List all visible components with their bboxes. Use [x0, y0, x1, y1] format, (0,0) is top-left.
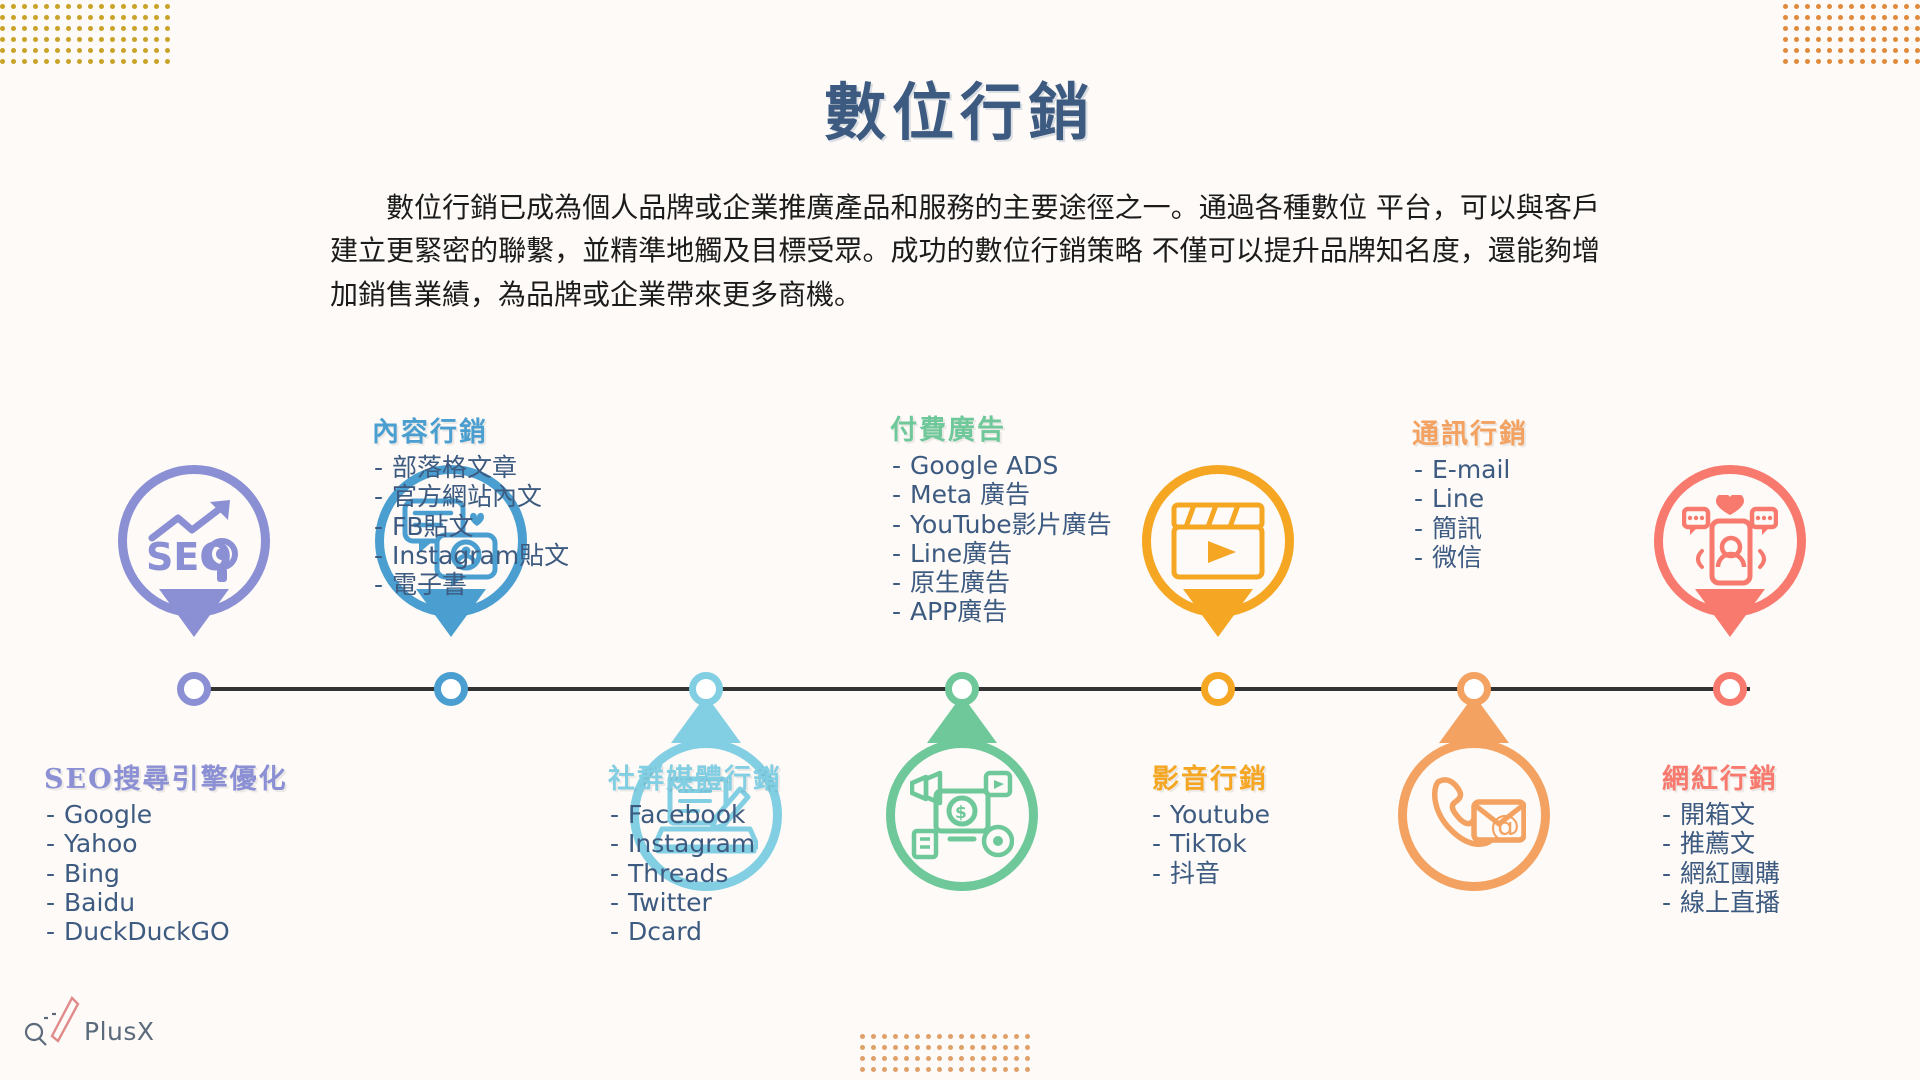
list-item: 部落格文章	[372, 453, 569, 482]
decorative-dot	[110, 26, 115, 31]
decorative-dot	[1816, 4, 1821, 9]
decorative-dot	[1816, 37, 1821, 42]
decorative-dot	[99, 26, 104, 31]
decorative-dot	[860, 1056, 865, 1061]
decorative-dot	[1893, 4, 1898, 9]
decorative-dot	[1783, 48, 1788, 53]
list-item: 推薦文	[1660, 829, 1780, 858]
list-item: 簡訊	[1412, 514, 1528, 543]
decorative-dot	[121, 37, 126, 42]
decorative-dot	[77, 4, 82, 9]
item-heading-influencer: 網紅行銷	[1660, 757, 1780, 796]
decorative-dot	[44, 26, 49, 31]
decorative-dot	[926, 1045, 931, 1050]
decorative-dot	[970, 1034, 975, 1039]
decorative-dot	[154, 4, 159, 9]
decorative-dot	[1904, 15, 1909, 20]
decorative-dot	[948, 1067, 953, 1072]
decorative-dot	[55, 4, 60, 9]
decorative-dot	[1882, 15, 1887, 20]
item-heading-paid: 付費廣告	[890, 408, 1112, 447]
decorative-dot	[1838, 26, 1843, 31]
list-item: YouTube影片廣告	[890, 510, 1112, 539]
decorative-dot	[970, 1056, 975, 1061]
list-item: TikTok	[1150, 829, 1270, 858]
decorative-dot	[0, 4, 5, 9]
decorative-dot	[44, 48, 49, 53]
decorative-dot	[915, 1045, 920, 1050]
decorative-dot	[1794, 48, 1799, 53]
decorative-dot	[121, 4, 126, 9]
decorative-dot	[1849, 15, 1854, 20]
marker-messaging[interactable]: @	[1398, 739, 1550, 891]
decorative-dot	[143, 4, 148, 9]
decorative-dot	[1838, 37, 1843, 42]
decorative-dot	[1794, 15, 1799, 20]
decorative-dot	[1014, 1067, 1019, 1072]
list-item: E-mail	[1412, 455, 1528, 484]
decorative-dot	[55, 15, 60, 20]
list-item: 開箱文	[1660, 800, 1780, 829]
megaphone-screen-icon: $	[910, 769, 1014, 861]
item-heading-content: 內容行銷	[372, 410, 569, 449]
timeline-node-social[interactable]	[689, 672, 723, 706]
item-list-video: YoutubeTikTok抖音	[1150, 800, 1270, 888]
decorative-dot	[1871, 4, 1876, 9]
marker-tail	[1183, 589, 1253, 637]
decorative-dot	[1860, 26, 1865, 31]
intro-paragraph: 數位行銷已成為個人品牌或企業推廣產品和服務的主要途徑之一。通過各種數位 平台，可…	[330, 186, 1600, 316]
decorative-dot	[1014, 1034, 1019, 1039]
item-heading-messaging: 通訊行銷	[1412, 412, 1528, 451]
decorative-dot	[165, 26, 170, 31]
decorative-dot	[66, 37, 71, 42]
list-item: Bing	[44, 859, 288, 888]
decorative-dot	[871, 1045, 876, 1050]
decorative-dot	[1904, 37, 1909, 42]
list-item: Instagram貼文	[372, 541, 569, 570]
list-item: FB貼文	[372, 512, 569, 541]
list-item: 微信	[1412, 543, 1528, 572]
decorative-dot	[1882, 48, 1887, 53]
decorative-dot	[1827, 4, 1832, 9]
decorative-dot	[77, 48, 82, 53]
decorative-dot	[871, 1034, 876, 1039]
decorative-dot	[1915, 15, 1920, 20]
decorative-dot	[66, 26, 71, 31]
decorative-dot	[132, 15, 137, 20]
decorative-dot	[1827, 37, 1832, 42]
list-item: APP廣告	[890, 597, 1112, 626]
decorative-dot	[1783, 15, 1788, 20]
list-item: Youtube	[1150, 800, 1270, 829]
decorative-dot	[1025, 1056, 1030, 1061]
list-item: 原生廣告	[890, 568, 1112, 597]
list-item: 線上直播	[1660, 888, 1780, 917]
decorative-dot	[1003, 1034, 1008, 1039]
decorative-dot	[1849, 26, 1854, 31]
decorative-dot	[1783, 4, 1788, 9]
decorative-dot	[926, 1034, 931, 1039]
decorative-dot	[1849, 4, 1854, 9]
decorative-dot	[1805, 26, 1810, 31]
dot-pattern-bottom-center	[860, 1034, 1030, 1072]
decorative-dot	[44, 37, 49, 42]
list-item: Google	[44, 800, 288, 829]
svg-text:$: $	[955, 803, 967, 823]
infographic-canvas: 數位行銷 數位行銷已成為個人品牌或企業推廣產品和服務的主要途徑之一。通過各種數位…	[0, 0, 1920, 1080]
decorative-dot	[981, 1045, 986, 1050]
decorative-dot	[915, 1067, 920, 1072]
decorative-dot	[143, 37, 148, 42]
decorative-dot	[1014, 1056, 1019, 1061]
decorative-dot	[893, 1045, 898, 1050]
decorative-dot	[0, 37, 5, 42]
decorative-dot	[860, 1034, 865, 1039]
decorative-dot	[860, 1045, 865, 1050]
item-heading-social: 社群媒體行銷	[608, 757, 782, 796]
list-item: 抖音	[1150, 859, 1270, 888]
decorative-dot	[915, 1056, 920, 1061]
list-item: 官方網站內文	[372, 482, 569, 511]
decorative-dot	[1794, 37, 1799, 42]
decorative-dot	[55, 26, 60, 31]
decorative-dot	[143, 48, 148, 53]
decorative-dot	[1838, 15, 1843, 20]
decorative-dot	[1871, 15, 1876, 20]
item-list-messaging: E-mailLine簡訊微信	[1412, 455, 1528, 572]
list-item: DuckDuckGO	[44, 917, 288, 946]
decorative-dot	[154, 37, 159, 42]
dot-pattern-top-left	[0, 4, 170, 64]
decorative-dot	[1860, 37, 1865, 42]
decorative-dot	[1882, 4, 1887, 9]
decorative-dot	[937, 1067, 942, 1072]
decorative-dot	[1003, 1056, 1008, 1061]
decorative-dot	[66, 48, 71, 53]
decorative-dot	[1816, 48, 1821, 53]
item-block-social: 社群媒體行銷FacebookInstagramThreadsTwitterDca…	[608, 757, 782, 946]
decorative-dot	[55, 37, 60, 42]
decorative-dot	[99, 4, 104, 9]
decorative-dot	[44, 15, 49, 20]
decorative-dot	[1893, 26, 1898, 31]
decorative-dot	[992, 1034, 997, 1039]
decorative-dot	[1805, 4, 1810, 9]
decorative-dot	[22, 37, 27, 42]
decorative-dot	[11, 48, 16, 53]
list-item: Threads	[608, 859, 782, 888]
decorative-dot	[132, 26, 137, 31]
list-item: Facebook	[608, 800, 782, 829]
decorative-dot	[1794, 4, 1799, 9]
decorative-dot	[0, 48, 5, 53]
item-list-influencer: 開箱文推薦文網紅團購線上直播	[1660, 800, 1780, 917]
plusx-mark-icon	[22, 988, 82, 1046]
marker-bulb-messaging: @	[1398, 739, 1550, 891]
item-block-messaging: 通訊行銷E-mailLine簡訊微信	[1412, 412, 1528, 572]
decorative-dot	[948, 1034, 953, 1039]
decorative-dot	[992, 1056, 997, 1061]
decorative-dot	[1904, 26, 1909, 31]
decorative-dot	[959, 1034, 964, 1039]
decorative-dot	[904, 1045, 909, 1050]
decorative-dot	[1893, 37, 1898, 42]
decorative-dot	[893, 1067, 898, 1072]
decorative-dot	[1904, 48, 1909, 53]
decorative-dot	[1860, 4, 1865, 9]
plusx-logo: PlusX	[22, 988, 155, 1046]
decorative-dot	[937, 1034, 942, 1039]
decorative-dot	[44, 4, 49, 9]
decorative-dot	[165, 37, 170, 42]
decorative-dot	[904, 1067, 909, 1072]
decorative-dot	[904, 1056, 909, 1061]
timeline-node-content[interactable]	[434, 672, 468, 706]
decorative-dot	[1805, 37, 1810, 42]
marker-tail	[159, 589, 229, 637]
decorative-dot	[1003, 1067, 1008, 1072]
decorative-dot	[1915, 48, 1920, 53]
decorative-dot	[937, 1056, 942, 1061]
decorative-dot	[165, 4, 170, 9]
phone-email-icon: @	[1422, 772, 1526, 858]
decorative-dot	[99, 37, 104, 42]
seo-chart-icon: SEO	[144, 498, 244, 584]
decorative-dot	[981, 1067, 986, 1072]
decorative-dot	[882, 1067, 887, 1072]
marker-seo[interactable]: SEO	[118, 465, 270, 633]
timeline-node-video[interactable]	[1201, 672, 1235, 706]
decorative-dot	[1816, 26, 1821, 31]
decorative-dot	[143, 26, 148, 31]
decorative-dot	[882, 1034, 887, 1039]
marker-paid[interactable]: $	[886, 739, 1038, 891]
decorative-dot	[882, 1056, 887, 1061]
decorative-dot	[110, 15, 115, 20]
decorative-dot	[121, 15, 126, 20]
decorative-dot	[121, 48, 126, 53]
decorative-dot	[11, 37, 16, 42]
decorative-dot	[1827, 48, 1832, 53]
svg-text:@: @	[1490, 809, 1520, 844]
decorative-dot	[33, 4, 38, 9]
decorative-dot	[1915, 26, 1920, 31]
marker-influencer[interactable]	[1654, 465, 1806, 633]
list-item: Google ADS	[890, 451, 1112, 480]
decorative-dot	[926, 1056, 931, 1061]
decorative-dot	[1783, 26, 1788, 31]
decorative-dot	[66, 4, 71, 9]
list-item: Line廣告	[890, 539, 1112, 568]
timeline-node-influencer[interactable]	[1713, 672, 1747, 706]
decorative-dot	[1025, 1045, 1030, 1050]
decorative-dot	[970, 1067, 975, 1072]
decorative-dot	[55, 48, 60, 53]
decorative-dot	[121, 26, 126, 31]
item-list-social: FacebookInstagramThreadsTwitterDcard	[608, 800, 782, 946]
decorative-dot	[1893, 15, 1898, 20]
plusx-wordmark: PlusX	[84, 1017, 155, 1046]
decorative-dot	[165, 15, 170, 20]
list-item: Dcard	[608, 917, 782, 946]
decorative-dot	[165, 48, 170, 53]
decorative-dot	[88, 26, 93, 31]
decorative-dot	[893, 1034, 898, 1039]
decorative-dot	[1014, 1045, 1019, 1050]
item-heading-video: 影音行銷	[1150, 757, 1270, 796]
decorative-dot	[1915, 37, 1920, 42]
decorative-dot	[154, 15, 159, 20]
decorative-dot	[1871, 48, 1876, 53]
intro-line-1: 數位行銷已成為個人品牌或企業推廣產品和服務的主要途徑之一。通過各種數位	[386, 191, 1367, 224]
decorative-dot	[1882, 37, 1887, 42]
decorative-dot	[99, 48, 104, 53]
decorative-dot	[1860, 48, 1865, 53]
decorative-dot	[154, 26, 159, 31]
decorative-dot	[132, 4, 137, 9]
decorative-dot	[88, 15, 93, 20]
decorative-dot	[981, 1056, 986, 1061]
decorative-dot	[1816, 15, 1821, 20]
decorative-dot	[22, 26, 27, 31]
item-block-seo: SEO搜尋引擎優化GoogleYahooBingBaiduDuckDuckGO	[44, 757, 288, 946]
decorative-dot	[1805, 48, 1810, 53]
marker-bulb-paid: $	[886, 739, 1038, 891]
list-item: Baidu	[44, 888, 288, 917]
decorative-dot	[66, 15, 71, 20]
decorative-dot	[981, 1034, 986, 1039]
decorative-dot	[88, 4, 93, 9]
decorative-dot	[992, 1045, 997, 1050]
decorative-dot	[1838, 48, 1843, 53]
decorative-dot	[132, 48, 137, 53]
decorative-dot	[937, 1045, 942, 1050]
list-item: Instagram	[608, 829, 782, 858]
decorative-dot	[860, 1067, 865, 1072]
decorative-dot	[1003, 1045, 1008, 1050]
decorative-dot	[1025, 1067, 1030, 1072]
phone-heart-icon	[1682, 495, 1778, 587]
decorative-dot	[33, 15, 38, 20]
decorative-dot	[948, 1056, 953, 1061]
marker-video[interactable]	[1142, 465, 1294, 633]
decorative-dot	[132, 37, 137, 42]
decorative-dot	[1860, 15, 1865, 20]
decorative-dot	[1849, 37, 1854, 42]
list-item: Meta 廣告	[890, 480, 1112, 509]
dot-pattern-top-right	[1783, 4, 1920, 64]
decorative-dot	[88, 48, 93, 53]
decorative-dot	[1827, 15, 1832, 20]
list-item: 網紅團購	[1660, 859, 1780, 888]
decorative-dot	[959, 1067, 964, 1072]
decorative-dot	[1783, 37, 1788, 42]
list-item: Twitter	[608, 888, 782, 917]
decorative-dot	[948, 1045, 953, 1050]
item-block-influencer: 網紅行銷開箱文推薦文網紅團購線上直播	[1660, 757, 1780, 917]
decorative-dot	[992, 1067, 997, 1072]
decorative-dot	[1882, 26, 1887, 31]
decorative-dot	[110, 37, 115, 42]
timeline-node-paid[interactable]	[945, 672, 979, 706]
decorative-dot	[1871, 37, 1876, 42]
decorative-dot	[11, 15, 16, 20]
decorative-dot	[110, 48, 115, 53]
decorative-dot	[154, 48, 159, 53]
decorative-dot	[22, 48, 27, 53]
decorative-dot	[893, 1056, 898, 1061]
item-block-video: 影音行銷YoutubeTikTok抖音	[1150, 757, 1270, 888]
decorative-dot	[1805, 15, 1810, 20]
decorative-dot	[1827, 26, 1832, 31]
item-block-paid: 付費廣告Google ADSMeta 廣告YouTube影片廣告Line廣告原生…	[890, 408, 1112, 627]
item-block-content: 內容行銷部落格文章官方網站內文FB貼文Instagram貼文電子書	[372, 410, 569, 599]
decorative-dot	[904, 1034, 909, 1039]
decorative-dot	[22, 4, 27, 9]
decorative-dot	[1838, 4, 1843, 9]
item-list-paid: Google ADSMeta 廣告YouTube影片廣告Line廣告原生廣告AP…	[890, 451, 1112, 627]
decorative-dot	[0, 26, 5, 31]
list-item: Line	[1412, 484, 1528, 513]
item-list-content: 部落格文章官方網站內文FB貼文Instagram貼文電子書	[372, 453, 569, 599]
page-title: 數位行銷	[0, 62, 1920, 152]
decorative-dot	[99, 15, 104, 20]
decorative-dot	[143, 15, 148, 20]
decorative-dot	[22, 15, 27, 20]
decorative-dot	[1904, 4, 1909, 9]
decorative-dot	[33, 26, 38, 31]
decorative-dot	[110, 4, 115, 9]
decorative-dot	[882, 1045, 887, 1050]
decorative-dot	[926, 1067, 931, 1072]
decorative-dot	[0, 15, 5, 20]
decorative-dot	[1893, 48, 1898, 53]
decorative-dot	[959, 1056, 964, 1061]
decorative-dot	[77, 15, 82, 20]
decorative-dot	[970, 1045, 975, 1050]
decorative-dot	[1871, 26, 1876, 31]
decorative-dot	[871, 1056, 876, 1061]
decorative-dot	[1794, 26, 1799, 31]
decorative-dot	[88, 37, 93, 42]
item-heading-seo: SEO搜尋引擎優化	[44, 757, 288, 796]
decorative-dot	[915, 1034, 920, 1039]
decorative-dot	[33, 48, 38, 53]
decorative-dot	[1025, 1034, 1030, 1039]
video-play-icon	[1168, 499, 1268, 583]
decorative-dot	[1915, 4, 1920, 9]
list-item: Yahoo	[44, 829, 288, 858]
decorative-dot	[77, 37, 82, 42]
decorative-dot	[11, 4, 16, 9]
marker-tail	[1695, 589, 1765, 637]
decorative-dot	[77, 26, 82, 31]
decorative-dot	[959, 1045, 964, 1050]
decorative-dot	[11, 26, 16, 31]
list-item: 電子書	[372, 570, 569, 599]
decorative-dot	[871, 1067, 876, 1072]
timeline-node-seo[interactable]	[177, 672, 211, 706]
item-list-seo: GoogleYahooBingBaiduDuckDuckGO	[44, 800, 288, 946]
decorative-dot	[33, 37, 38, 42]
decorative-dot	[1849, 48, 1854, 53]
timeline-node-messaging[interactable]	[1457, 672, 1491, 706]
